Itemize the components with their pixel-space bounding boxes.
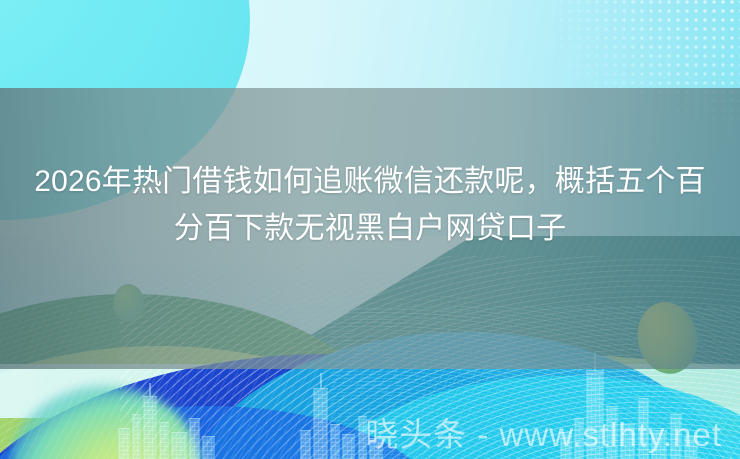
article-cover-image: 2026年热门借钱如何追账微信还款呢，概括五个百分百下款无视黑白户网贷口子 晓头… <box>0 0 740 459</box>
site-watermark: 晓头条 - www.stlhty.net <box>365 418 722 451</box>
cover-title: 2026年热门借钱如何追账微信还款呢，概括五个百分百下款无视黑白户网贷口子 <box>0 158 740 252</box>
city-skyline-icon-left <box>118 389 228 459</box>
